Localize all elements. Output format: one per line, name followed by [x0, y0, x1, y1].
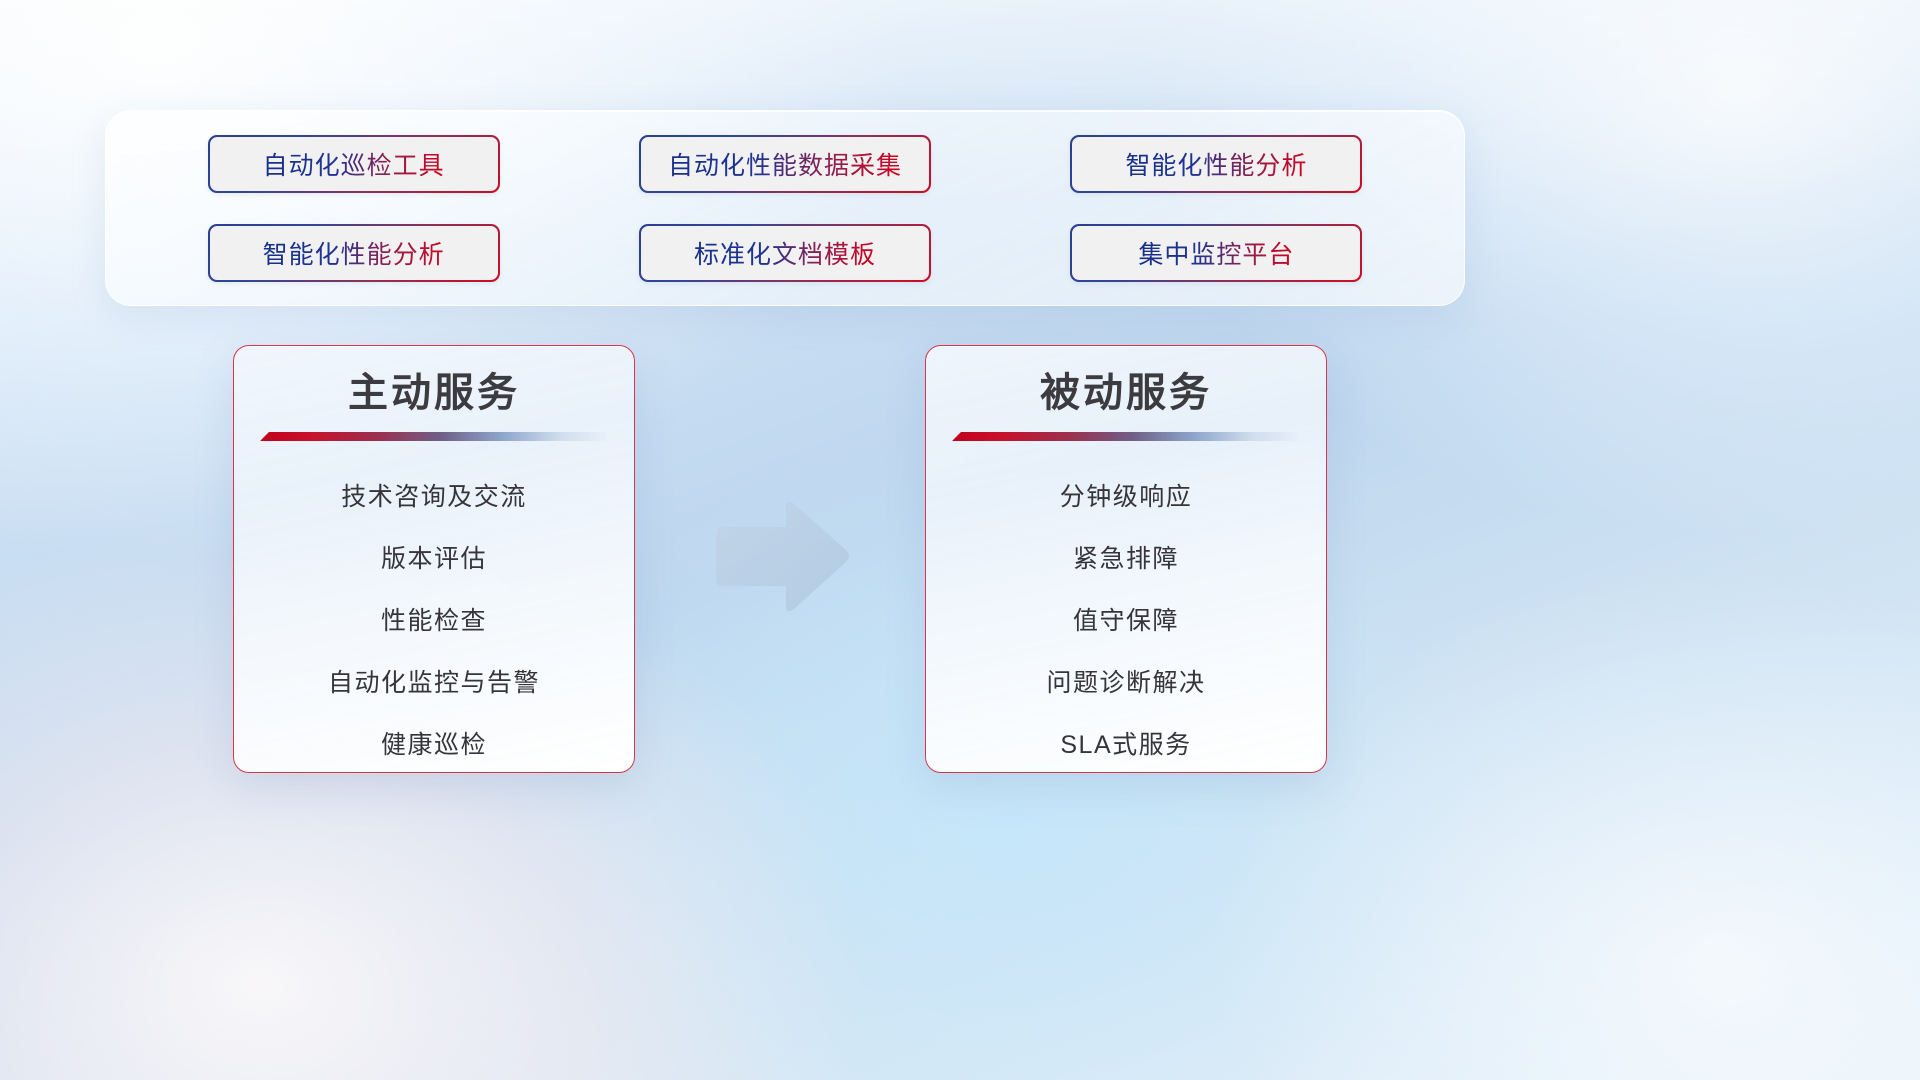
service-list-item: 问题诊断解决: [1046, 663, 1205, 699]
service-list-item: 技术咨询及交流: [341, 477, 527, 513]
capability-tag-label: 自动化巡检工具: [263, 146, 445, 182]
service-list-item: SLA式服务: [1060, 725, 1191, 761]
title-divider-bar: [952, 432, 1300, 441]
service-card-proactive: 主动服务 技术咨询及交流 版本评估 性能检查 自动化监控与告警 健康巡检: [233, 345, 635, 773]
service-list-item: 性能检查: [381, 601, 487, 637]
capability-tag[interactable]: 智能化性能分析: [208, 224, 500, 282]
capability-tag-label: 智能化性能分析: [263, 235, 445, 271]
service-card-title: 被动服务: [1040, 368, 1212, 418]
service-list-item: 健康巡检: [381, 725, 487, 761]
service-list-item: 分钟级响应: [1060, 477, 1193, 513]
service-card-reactive: 被动服务 分钟级响应 紧急排障 值守保障 问题诊断解决 SLA式服务: [925, 345, 1327, 773]
service-list-item: 自动化监控与告警: [328, 663, 540, 699]
capability-tag[interactable]: 自动化性能数据采集: [639, 135, 931, 193]
service-list-item: 值守保障: [1073, 601, 1179, 637]
service-card-title: 主动服务: [348, 368, 520, 418]
right-arrow-icon: [712, 498, 852, 616]
service-list-item: 版本评估: [381, 539, 487, 575]
capability-tag[interactable]: 标准化文档模板: [639, 224, 931, 282]
capability-tag[interactable]: 自动化巡检工具: [208, 135, 500, 193]
service-item-list: 分钟级响应 紧急排障 值守保障 问题诊断解决 SLA式服务: [926, 477, 1326, 761]
capability-tag[interactable]: 集中监控平台: [1070, 224, 1362, 282]
title-divider-bar: [260, 432, 608, 441]
capability-tag-label: 智能化性能分析: [1125, 146, 1307, 182]
capability-tag-label: 标准化文档模板: [694, 235, 876, 271]
capability-tag-label: 自动化性能数据采集: [668, 146, 902, 182]
capability-tag-panel: 自动化巡检工具 自动化性能数据采集 智能化性能分析 智能化性能分析 标准化文档模…: [105, 110, 1465, 306]
capability-tag[interactable]: 智能化性能分析: [1070, 135, 1362, 193]
service-list-item: 紧急排障: [1073, 539, 1179, 575]
capability-tag-label: 集中监控平台: [1138, 235, 1294, 271]
service-item-list: 技术咨询及交流 版本评估 性能检查 自动化监控与告警 健康巡检: [234, 477, 634, 761]
